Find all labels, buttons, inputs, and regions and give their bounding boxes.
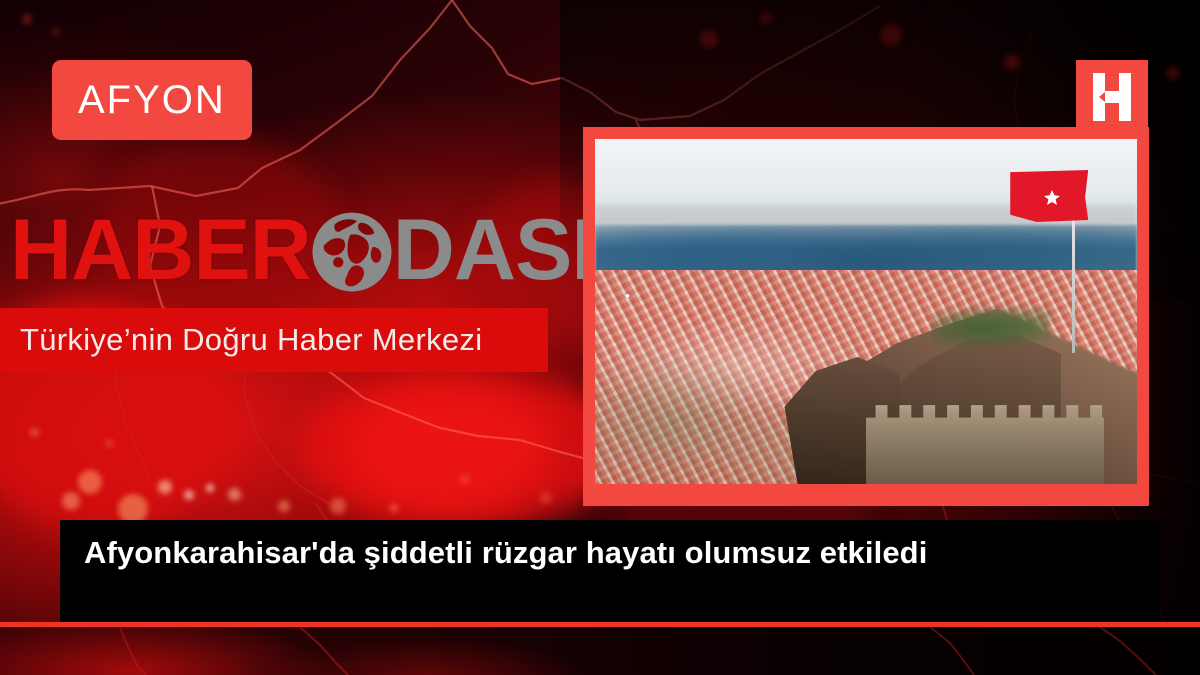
bokeh-dot bbox=[460, 474, 470, 484]
bokeh-dot bbox=[700, 30, 718, 48]
site-logo[interactable]: HABER bbox=[10, 195, 570, 305]
bokeh-dot bbox=[1004, 54, 1020, 70]
bokeh-dot bbox=[228, 488, 241, 501]
tagline-text: Türkiye’nin Doğru Haber Merkezi bbox=[0, 322, 482, 358]
turkish-flag-star-icon bbox=[1010, 170, 1088, 222]
bokeh-dot bbox=[184, 490, 194, 500]
letter-h-icon bbox=[1091, 73, 1133, 121]
h-logo-mark[interactable] bbox=[1076, 60, 1148, 134]
bokeh-dot bbox=[62, 492, 80, 510]
bokeh-dot bbox=[22, 14, 32, 24]
bokeh-dot bbox=[390, 504, 398, 512]
logo-word-dasi: DASI bbox=[393, 207, 594, 293]
bokeh-dot bbox=[760, 12, 772, 24]
bokeh-dot bbox=[30, 428, 39, 437]
bokeh-dot bbox=[52, 28, 59, 35]
bokeh-dot bbox=[880, 24, 902, 46]
bokeh-dot bbox=[106, 440, 113, 447]
bokeh-dot bbox=[540, 492, 552, 504]
bokeh-dot bbox=[78, 470, 102, 494]
bokeh-dot bbox=[1166, 66, 1180, 80]
tagline-band: Türkiye’nin Doğru Haber Merkezi bbox=[0, 308, 548, 372]
bottom-strip bbox=[0, 627, 1200, 675]
logo-word-haber: HABER bbox=[10, 207, 311, 293]
news-photo bbox=[595, 139, 1137, 484]
globe-icon bbox=[309, 209, 395, 295]
headline-text: Afyonkarahisar'da şiddetli rüzgar hayatı… bbox=[84, 534, 1136, 573]
bottom-strip-map-lines bbox=[0, 627, 1200, 675]
bokeh-dot bbox=[158, 480, 172, 494]
news-card-canvas: AFYON HABER bbox=[0, 0, 1200, 675]
photo-greenery bbox=[931, 305, 1050, 346]
news-photo-frame bbox=[583, 127, 1149, 506]
bokeh-dot bbox=[330, 498, 346, 514]
city-badge: AFYON bbox=[52, 60, 252, 140]
headline-bar: Afyonkarahisar'da şiddetli rüzgar hayatı… bbox=[60, 520, 1160, 622]
bokeh-dot bbox=[278, 500, 290, 512]
city-badge-label: AFYON bbox=[78, 78, 226, 123]
bokeh-dot bbox=[206, 484, 214, 492]
